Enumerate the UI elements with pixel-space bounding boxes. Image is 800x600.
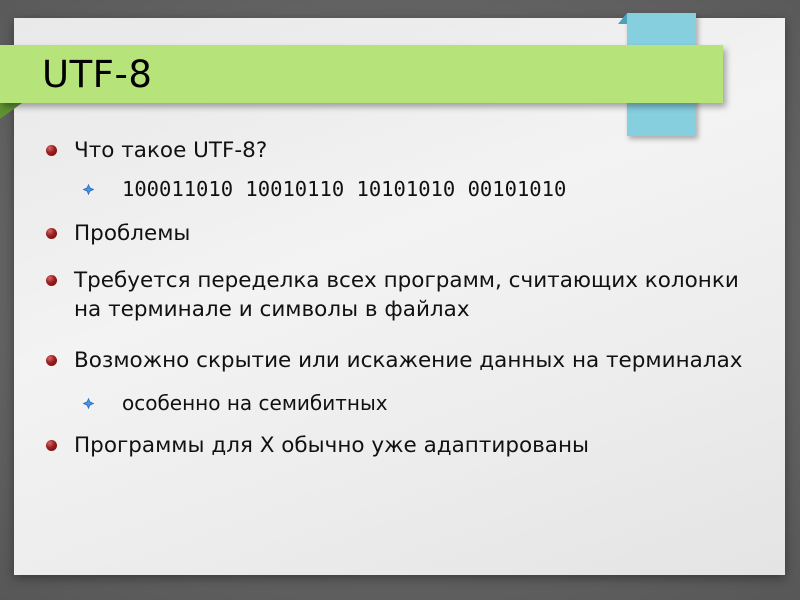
list-item: Программы для X обычно уже адаптированы [14, 431, 785, 460]
list-item-text: Возможно скрытие или искажение данных на… [74, 348, 743, 373]
red-sphere-bullet-icon [46, 440, 57, 451]
red-sphere-bullet-icon [46, 228, 57, 239]
blue-star-bullet-icon [82, 183, 95, 196]
list-item-text: Проблемы [74, 221, 190, 246]
list-item: особенно на семибитных [14, 389, 785, 417]
red-sphere-bullet-icon [46, 275, 57, 286]
list-item: Возможно скрытие или искажение данных на… [14, 346, 785, 375]
title-banner: UTF-8 [0, 45, 723, 103]
green-banner-fold-icon [0, 103, 22, 119]
list-item: Что такое UTF-8? [14, 136, 785, 165]
blue-star-bullet-icon [82, 397, 95, 410]
blue-ribbon-fold-icon [618, 13, 627, 24]
list-item-text: Что такое UTF-8? [74, 138, 267, 163]
list-item-text: 100011010 10010110 10101010 00101010 [122, 177, 566, 201]
red-sphere-bullet-icon [46, 355, 57, 366]
presentation-slide: UTF-8 Что такое UTF-8? 100011010 1001011… [0, 0, 800, 600]
page-title: UTF-8 [42, 56, 152, 93]
list-item: Проблемы [14, 219, 785, 248]
list-item-text: Программы для X обычно уже адаптированы [74, 433, 589, 458]
list-item: Требуется переделка всех программ, счита… [14, 266, 785, 324]
red-sphere-bullet-icon [46, 145, 57, 156]
list-item: 100011010 10010110 10101010 00101010 [14, 175, 785, 203]
bullet-list: Что такое UTF-8? 100011010 10010110 1010… [14, 136, 785, 473]
list-item-text: особенно на семибитных [122, 391, 388, 415]
list-item-text: Требуется переделка всех программ, счита… [74, 268, 739, 322]
